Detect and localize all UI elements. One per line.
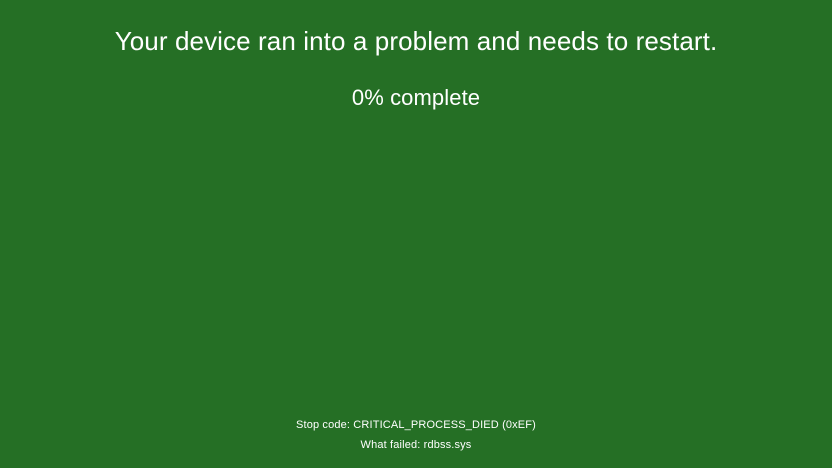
empty-content-area (0, 120, 832, 410)
stop-code-line: Stop code: CRITICAL_PROCESS_DIED (0xEF) (0, 415, 832, 435)
error-details-block: Stop code: CRITICAL_PROCESS_DIED (0xEF) … (0, 415, 832, 455)
what-failed-line: What failed: rdbss.sys (0, 435, 832, 455)
error-headline: Your device ran into a problem and needs… (0, 26, 832, 56)
progress-percent-text: 0% complete (0, 85, 832, 111)
stop-error-screen: Your device ran into a problem and needs… (0, 0, 832, 468)
